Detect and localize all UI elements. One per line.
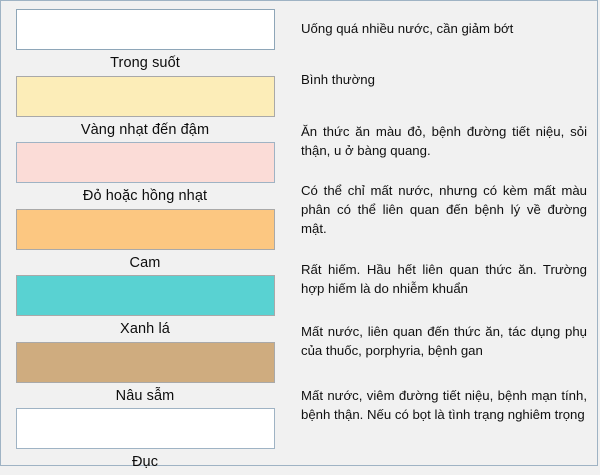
description-text: Uống quá nhiều nước, cần giảm bớt (301, 19, 587, 38)
color-swatch-icon (16, 342, 275, 383)
color-swatch-icon (16, 209, 275, 250)
color-swatch-icon (16, 275, 275, 316)
swatch-row: Xanh lá (1, 275, 289, 342)
description-text: Rất hiếm. Hầu hết liên quan thức ăn. Trư… (301, 260, 587, 298)
swatch-row: Nâu sẫm (1, 342, 289, 409)
swatch-row: Đỏ hoặc hồng nhạt (1, 142, 289, 209)
swatch-row: Đục (1, 408, 289, 475)
color-swatch-icon (16, 9, 275, 50)
swatch-label: Trong suốt (1, 50, 289, 76)
description-text: Mất nước, liên quan đến thức ăn, tác dụn… (301, 322, 587, 360)
urine-color-chart: Trong suốt Vàng nhạt đến đậm Đỏ hoặc hồn… (0, 0, 598, 466)
swatch-row: Trong suốt (1, 9, 289, 76)
swatch-label: Cam (1, 250, 289, 276)
swatch-label: Nâu sẫm (1, 383, 289, 409)
color-swatch-icon (16, 408, 275, 449)
swatch-row: Vàng nhạt đến đậm (1, 76, 289, 143)
description-column: Uống quá nhiều nước, cần giảm bớt Bình t… (289, 1, 597, 465)
color-swatch-icon (16, 76, 275, 117)
description-text: Có thể chỉ mất nước, nhưng có kèm mất mà… (301, 181, 587, 238)
swatch-label: Xanh lá (1, 316, 289, 342)
description-text: Bình thường (301, 70, 587, 89)
description-text: Mất nước, viêm đường tiết niệu, bệnh mạn… (301, 386, 587, 424)
swatch-label: Vàng nhạt đến đậm (1, 117, 289, 143)
swatch-row: Cam (1, 209, 289, 276)
color-swatch-icon (16, 142, 275, 183)
swatch-label: Đỏ hoặc hồng nhạt (1, 183, 289, 209)
description-text: Ăn thức ăn màu đỏ, bệnh đường tiết niệu,… (301, 122, 587, 160)
swatch-label: Đục (1, 449, 289, 475)
color-swatch-column: Trong suốt Vàng nhạt đến đậm Đỏ hoặc hồn… (1, 1, 289, 465)
